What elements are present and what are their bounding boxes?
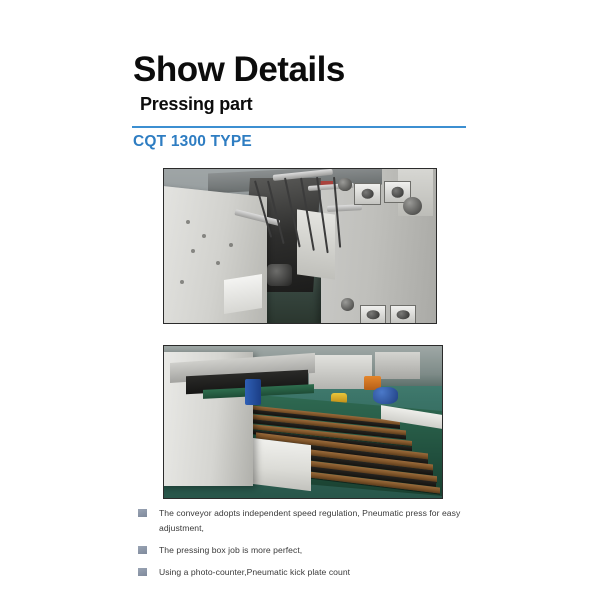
bullet-square-icon [138,509,147,517]
photo1-bearing-block-4 [390,305,416,323]
photo1-bearing-block-1 [354,183,380,205]
photo1-bolt-1 [186,220,190,224]
page-title: Show Details [133,52,345,87]
photo1-access-hole-3 [341,298,355,310]
page-subtitle: Pressing part [140,95,252,113]
photo1-center-white-guard [297,209,335,279]
photo1-motor-unit [267,264,291,286]
photo2-blue-cylinder [245,379,262,405]
bullet-square-icon [138,568,147,576]
photo1-white-block [224,274,262,314]
photo2-background-machine-1 [309,355,373,388]
bullet-square-icon [138,546,147,554]
pressing-unit-photo [163,168,437,324]
photo1-bearing-block-3 [360,305,386,323]
photo2-background-machine-2 [375,352,419,379]
header-divider [132,126,466,128]
document-page: Show Details Pressing part CQT 1300 TYPE [0,0,600,600]
conveyor-stack-photo: 64 [163,345,443,499]
pressing-unit-photo-content [164,169,436,323]
feature-text: The conveyor adopts independent speed re… [159,506,478,536]
photo1-access-hole-2 [338,178,352,190]
conveyor-stack-photo-content: 64 [164,346,442,498]
feature-text: The pressing box job is more perfect, [159,543,302,558]
model-label: CQT 1300 TYPE [133,134,252,150]
list-item: The pressing box job is more perfect, [138,543,478,558]
photo1-bolt-2 [202,234,206,238]
photo2-blue-drum [373,387,398,404]
feature-text: Using a photo-counter,Pneumatic kick pla… [159,565,350,580]
feature-list: The conveyor adopts independent speed re… [138,506,478,587]
list-item: The conveyor adopts independent speed re… [138,506,478,536]
list-item: Using a photo-counter,Pneumatic kick pla… [138,565,478,580]
